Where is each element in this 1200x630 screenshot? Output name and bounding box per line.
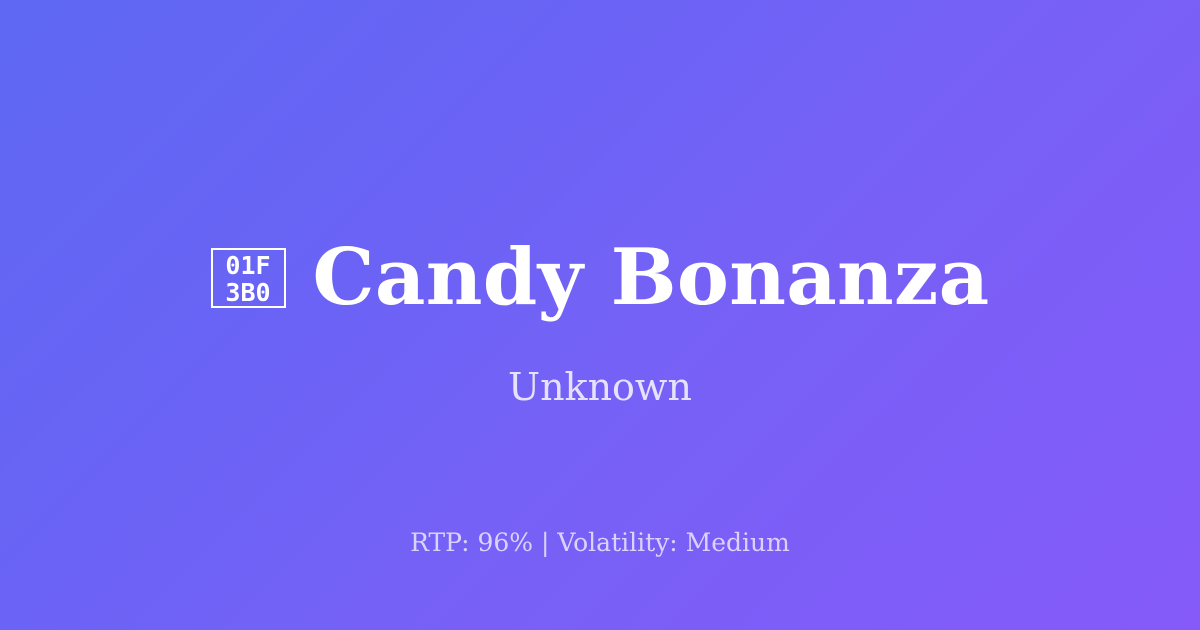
slot-machine-icon: 01F 3B0: [211, 248, 286, 308]
page-title: Candy Bonanza: [313, 232, 990, 324]
tofu-codepoint-top: 01F: [225, 252, 270, 279]
provider-subtitle: Unknown: [0, 363, 1200, 411]
game-stats-line: RTP: 96% | Volatility: Medium: [0, 527, 1200, 559]
title-row: 01F 3B0 Candy Bonanza: [0, 232, 1200, 324]
tofu-codepoint-bottom: 3B0: [225, 279, 270, 306]
game-share-card: 01F 3B0 Candy Bonanza Unknown RTP: 96% |…: [0, 0, 1200, 630]
